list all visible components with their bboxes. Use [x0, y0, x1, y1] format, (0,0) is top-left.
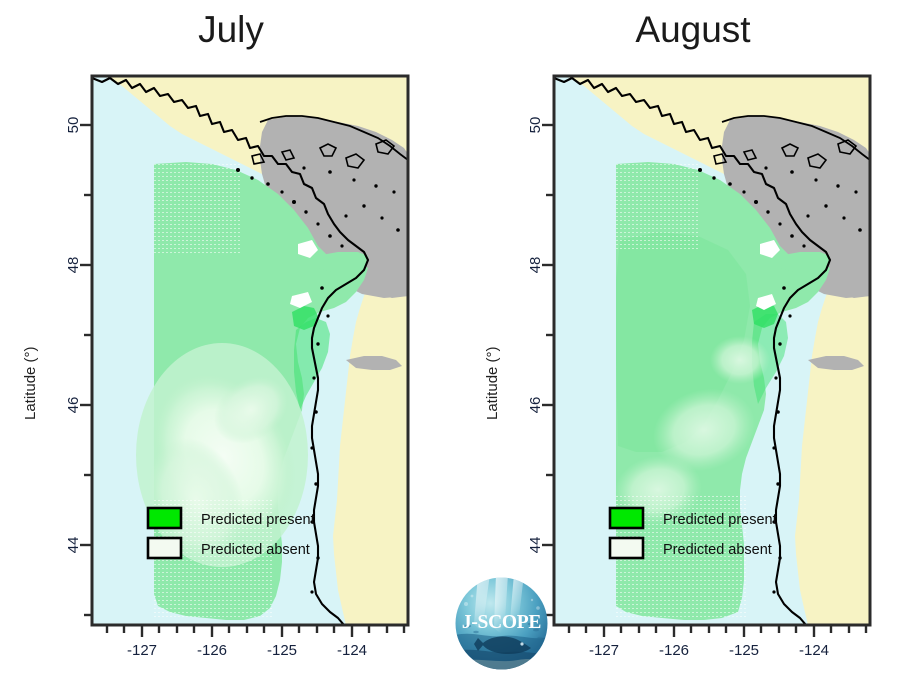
legend-swatch-absent: [148, 538, 181, 558]
legend-label-absent: Predicted absent: [201, 542, 310, 558]
y-axis-label-august: Latitude (°): [484, 346, 501, 420]
x-axis-tick-labels-july: -127 -126 -125 -124: [127, 642, 367, 659]
y-tick-label: 46: [527, 397, 544, 414]
panel-august: August Latitude (°): [462, 0, 924, 680]
x-tick-label: -126: [659, 642, 689, 659]
y-axis-tick-labels-july: 50 48 46 44: [65, 117, 82, 554]
habitat-strait-arm: [316, 252, 368, 272]
legend-swatch-absent: [610, 538, 643, 558]
x-tick-label: -125: [729, 642, 759, 659]
legend-label-present: Predicted present: [663, 512, 777, 528]
logo-text: J-SCOPE: [462, 612, 541, 633]
map-july[interactable]: 50 48 46 44: [46, 60, 446, 660]
habitat-stipple-nw: [154, 164, 240, 254]
x-axis-ticks-july: [107, 625, 404, 637]
y-tick-label: 50: [65, 117, 82, 134]
panel-title-august: August: [462, 2, 924, 58]
x-axis-ticks-august: [569, 625, 866, 637]
jscope-logo[interactable]: J-SCOPE: [452, 574, 551, 673]
habitat-stipple-nw: [616, 164, 698, 250]
x-tick-label: -124: [799, 642, 829, 659]
legend-swatch-present: [610, 508, 643, 528]
figure-canvas: July Latitude (°): [0, 0, 924, 680]
y-tick-label: 44: [65, 537, 82, 554]
y-tick-label: 46: [65, 397, 82, 414]
y-tick-label: 44: [527, 537, 544, 554]
y-tick-label: 50: [527, 117, 544, 134]
legend-swatch-present: [148, 508, 181, 528]
y-axis-tick-labels-august: 50 48 46 44: [527, 117, 544, 554]
habitat-strait-arm: [778, 252, 830, 272]
y-axis-label-july: Latitude (°): [22, 346, 39, 420]
x-axis-tick-labels-august: -127 -126 -125 -124: [589, 642, 829, 659]
x-tick-label: -125: [267, 642, 297, 659]
legend-label-present: Predicted present: [201, 512, 315, 528]
map-august[interactable]: 50 48 46 44: [508, 60, 908, 660]
legend-label-absent: Predicted absent: [663, 542, 772, 558]
panel-title-july: July: [0, 2, 462, 58]
habitat-absent-patch-3: [710, 336, 770, 384]
panel-july: July Latitude (°): [0, 0, 462, 680]
x-tick-label: -126: [197, 642, 227, 659]
x-tick-label: -124: [337, 642, 367, 659]
x-tick-label: -127: [127, 642, 157, 659]
y-tick-label: 48: [527, 257, 544, 274]
y-tick-label: 48: [65, 257, 82, 274]
x-tick-label: -127: [589, 642, 619, 659]
